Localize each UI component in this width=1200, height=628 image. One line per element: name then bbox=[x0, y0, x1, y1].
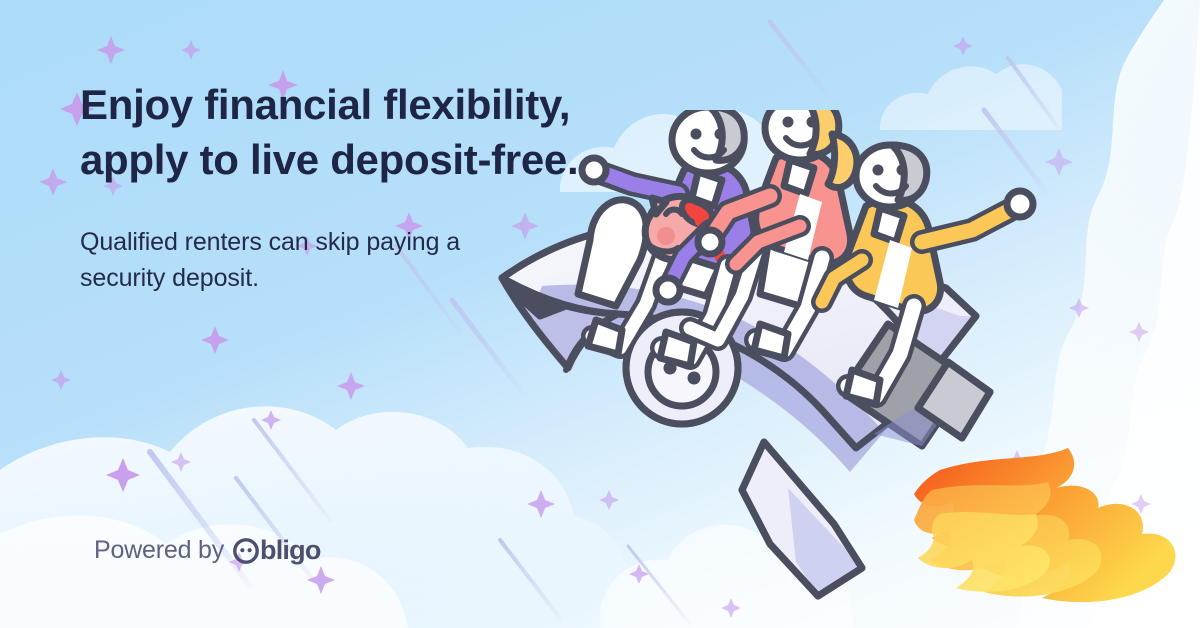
rider3-eye-right bbox=[897, 165, 908, 176]
powered-by-lockup: Powered by bligo bbox=[94, 536, 321, 565]
porthole-dot-right bbox=[688, 372, 701, 385]
rider1-hand-lower bbox=[656, 278, 680, 302]
headline-line-2: apply to live deposit-free. bbox=[80, 136, 578, 183]
page-title: Enjoy financial flexibility, apply to li… bbox=[80, 78, 640, 187]
subhead-line-1: Qualified renters can skip paying a bbox=[80, 228, 460, 256]
headline-line-1: Enjoy financial flexibility, bbox=[80, 81, 570, 128]
obligo-logo: bligo bbox=[233, 537, 320, 564]
rider3-boot-near bbox=[846, 370, 880, 404]
obligo-circle-two-dots-icon bbox=[233, 538, 259, 564]
marketing-banner: Enjoy financial flexibility, apply to li… bbox=[0, 0, 1200, 628]
powered-by-label: Powered by bbox=[94, 536, 224, 565]
page-subtitle: Qualified renters can skip paying a secu… bbox=[80, 225, 640, 296]
rider2-collar bbox=[784, 160, 814, 194]
rider1-eye-right bbox=[715, 129, 726, 140]
rider2-eye-left bbox=[783, 117, 794, 128]
piggy-cheek bbox=[657, 227, 675, 245]
rider3-collar bbox=[874, 208, 904, 242]
rocket-flame bbox=[914, 448, 1175, 602]
rider3-eye-left bbox=[873, 165, 884, 176]
rider3-hand-out bbox=[1007, 191, 1033, 217]
rider2-eye-right bbox=[807, 117, 818, 128]
rider1-boot-far bbox=[588, 320, 622, 354]
rider1-eye-left bbox=[691, 129, 702, 140]
rider2-hand-upper bbox=[698, 230, 722, 254]
obligo-wordmark: bligo bbox=[260, 537, 320, 564]
subhead-line-2: security deposit. bbox=[80, 264, 259, 292]
rider2-ponytail bbox=[828, 134, 857, 188]
copy-block: Enjoy financial flexibility, apply to li… bbox=[80, 78, 640, 296]
rider2-boot-near bbox=[754, 324, 788, 358]
